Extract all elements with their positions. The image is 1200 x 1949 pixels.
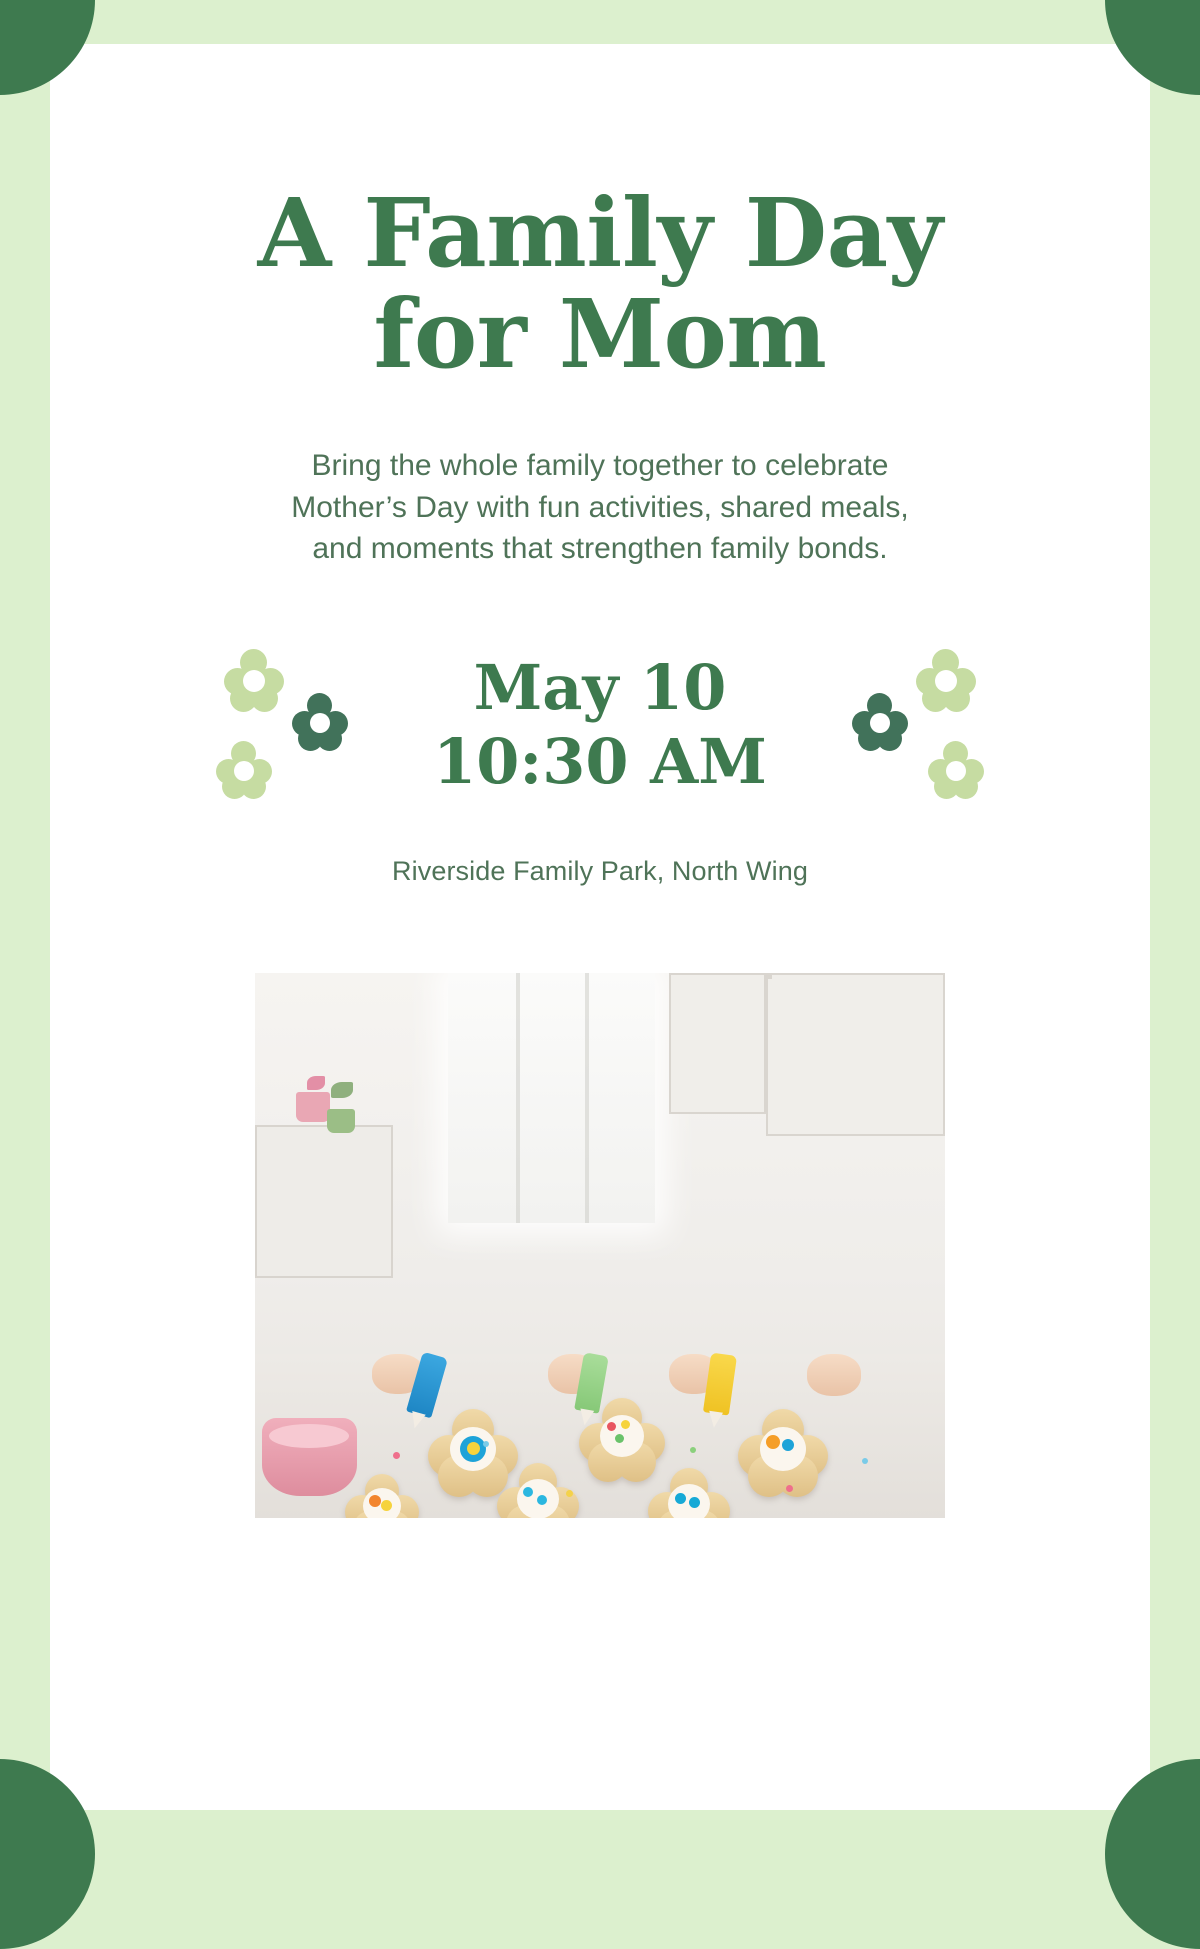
event-time: 10:30 AM	[433, 725, 767, 798]
flower-cookie	[345, 1474, 419, 1518]
kitchen-cabinet	[766, 973, 945, 1137]
green-plant-pot	[327, 1109, 355, 1133]
page-title: A Family Day for Mom	[190, 184, 1010, 385]
flower-cluster-left	[210, 645, 370, 805]
counter-sprinkle	[862, 1458, 868, 1464]
poster-content: A Family Day for Mom Bring the whole fam…	[50, 44, 1150, 1810]
dark-flower-icon	[292, 693, 348, 749]
event-date-time: May 10 10:30 AM	[433, 651, 767, 797]
dark-flower-icon	[852, 693, 908, 749]
title-line-2: for Mom	[374, 279, 827, 390]
light-flower-icon	[224, 649, 284, 709]
poster-root: A Family Day for Mom Bring the whole fam…	[0, 0, 1200, 1854]
counter-sprinkle	[566, 1490, 573, 1497]
plant-blossom	[307, 1076, 325, 1090]
plant-leaf	[331, 1082, 353, 1098]
flower-cookie	[738, 1409, 828, 1487]
event-photo	[255, 973, 945, 1518]
counter-sprinkle	[690, 1447, 696, 1453]
kitchen-cabinet	[669, 973, 766, 1115]
light-flower-icon	[916, 649, 976, 709]
event-location: Riverside Family Park, North Wing	[392, 856, 808, 887]
photo-scene	[255, 973, 945, 1518]
kitchen-cabinet	[255, 1125, 393, 1278]
kitchen-window	[448, 973, 655, 1224]
flower-cookie	[648, 1468, 730, 1517]
counter-sprinkle	[483, 1441, 489, 1447]
light-flower-icon	[928, 741, 984, 797]
date-time-strip: May 10 10:30 AM	[210, 630, 990, 820]
flower-cookie	[579, 1398, 665, 1472]
pink-sprinkle-bowl	[262, 1418, 357, 1496]
flower-cluster-right	[830, 645, 990, 805]
pink-flower-pot	[296, 1092, 330, 1122]
event-date: May 10	[474, 651, 727, 724]
boy-right-hand-2	[807, 1354, 861, 1396]
title-line-1: A Family Day	[258, 178, 943, 289]
subtitle-text: Bring the whole family together to celeb…	[280, 445, 920, 569]
light-flower-icon	[216, 741, 272, 797]
